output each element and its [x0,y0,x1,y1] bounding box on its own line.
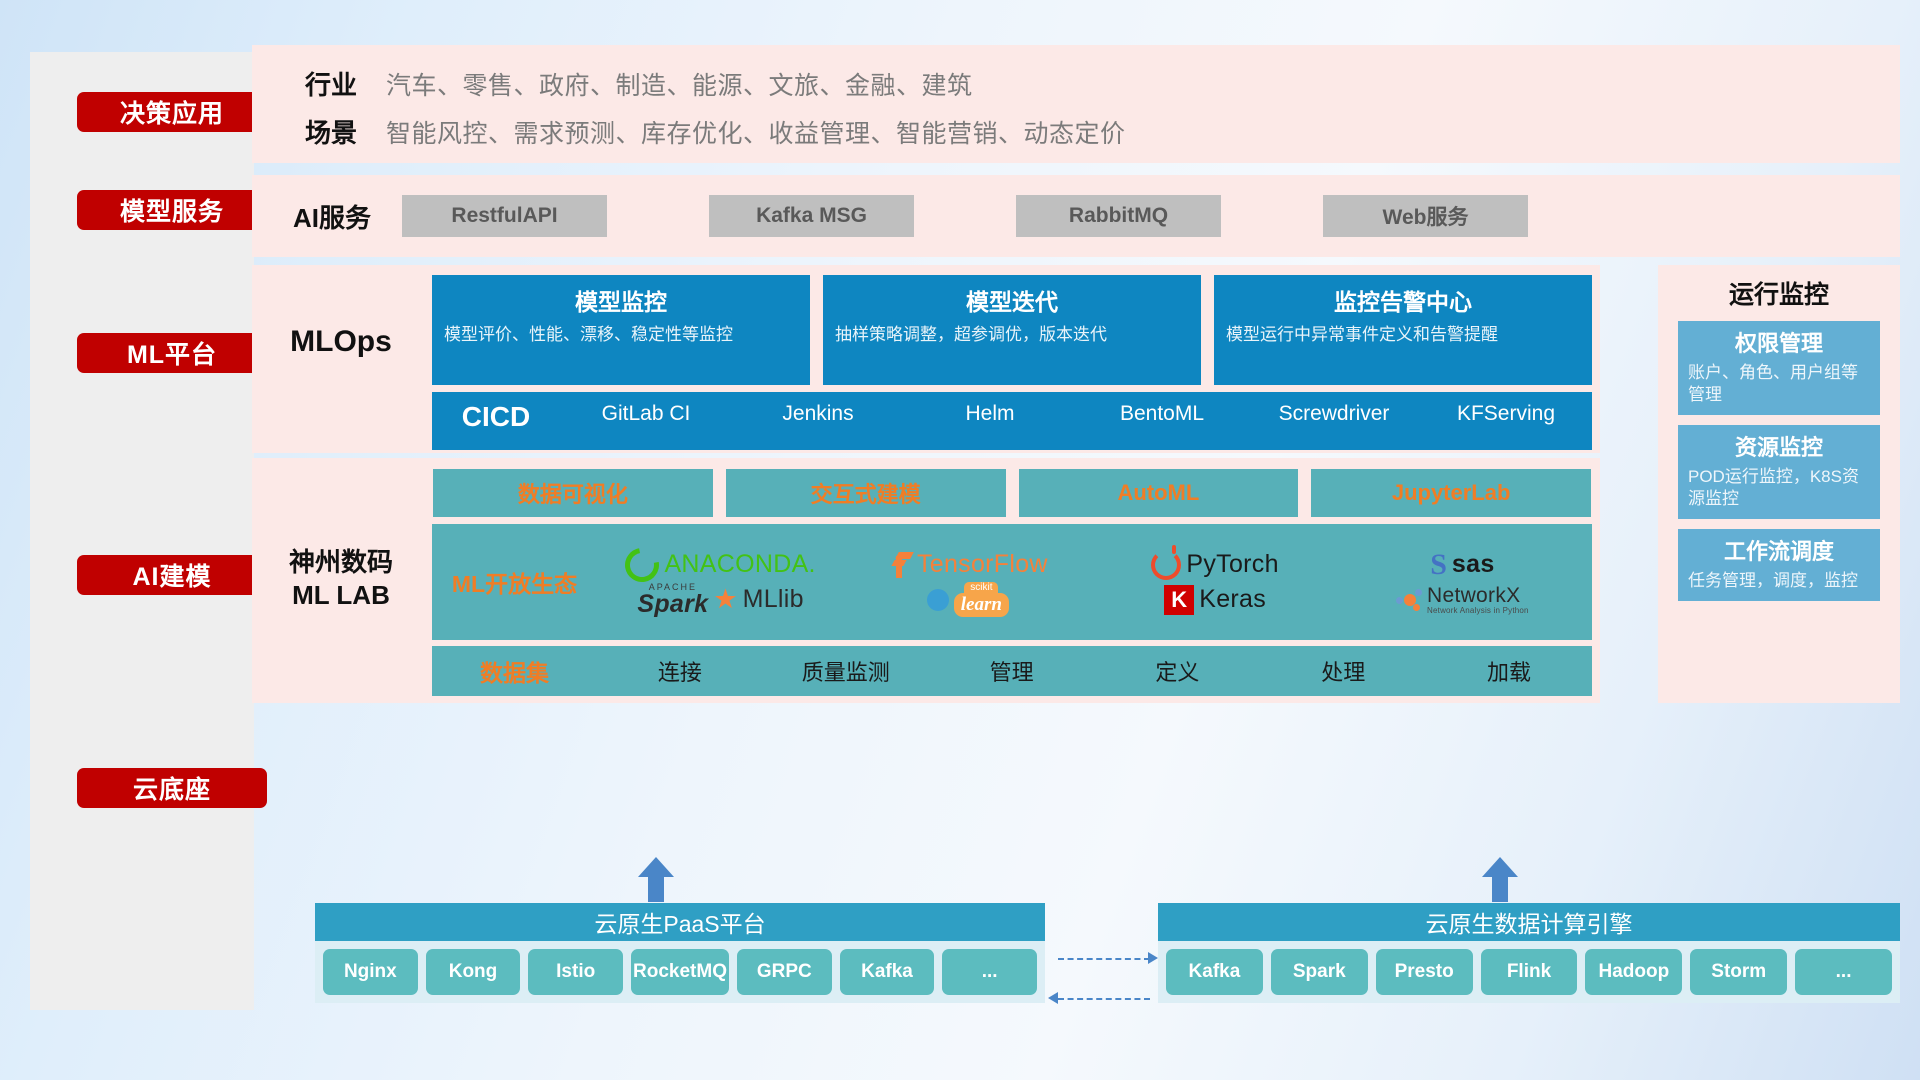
cicd-item-screwdriver[interactable]: Screwdriver [1248,392,1420,425]
rail-item-cloud-base[interactable]: 云底座 [77,768,267,808]
dataset-row: 数据集 连接 质量监测 管理 定义 处理 加载 [432,644,1592,696]
sas-s-icon: S [1430,548,1447,582]
mlops-card-desc: 模型运行中异常事件定义和告警提醒 [1226,324,1580,347]
dataset-item-manage[interactable]: 管理 [929,655,1095,687]
tensorflow-logo-text: TensorFlow [917,552,1048,577]
tab-data-visualization[interactable]: 数据可视化 [432,468,714,518]
ai-service-chip-restfulapi[interactable]: RestfulAPI [402,195,607,237]
tensorflow-mark-icon [888,552,912,578]
dataset-key: 数据集 [432,654,597,688]
keras-logo-text: Keras [1199,587,1266,612]
ai-service-chip-rabbitmq[interactable]: RabbitMQ [1016,195,1221,237]
cicd-item-helm[interactable]: Helm [904,392,1076,425]
monitoring-card-workflow[interactable]: 工作流调度 任务管理，调度，监控 [1678,529,1880,601]
cicd-item-gitlab-ci[interactable]: GitLab CI [560,392,732,425]
spark-logo-text: Spark [637,592,708,617]
industry-value: 汽车、零售、政府、制造、能源、文旅、金融、建筑 [386,66,973,102]
ml-lab-label-line1: 神州数码 [252,546,430,579]
pytorch-flame-icon [1151,550,1181,580]
mlops-card-title: 模型监控 [444,283,798,317]
data-engine-chip-hadoop[interactable]: Hadoop [1585,949,1682,995]
keras-mark-icon: K [1164,585,1194,615]
spark-mllib-logo: APACHE Spark ★ MLlib [637,583,803,617]
scikit-logo-text: scikit [964,582,998,593]
monitoring-card-title: 工作流调度 [1688,534,1870,566]
scenario-key: 场景 [276,113,386,150]
paas-chip-istio[interactable]: Istio [528,949,623,995]
mlops-card-desc: 模型评价、性能、漂移、稳定性等监控 [444,324,798,347]
networkx-logo-text: NetworkX [1427,585,1520,606]
monitoring-card-desc: 任务管理，调度，监控 [1688,570,1870,592]
monitoring-card-resource[interactable]: 资源监控 POD运行监控，K8S资源监控 [1678,425,1880,519]
paas-platform: 云原生PaaS平台 Nginx Kong Istio RocketMQ GRPC… [315,903,1045,1003]
tensorflow-logo: TensorFlow [888,552,1048,578]
networkx-graph-icon [1396,589,1422,611]
mlops-card-model-iteration[interactable]: 模型迭代 抽样策略调整，超参调优，版本迭代 [823,275,1201,385]
ai-service-band: AI服务 RestfulAPI Kafka MSG RabbitMQ Web服务 [252,175,1900,257]
rail-item-ml-platform[interactable]: ML平台 [77,333,267,373]
mllib-logo-text: MLlib [743,587,804,612]
scikit-blob-icon [927,589,949,611]
dataset-item-load[interactable]: 加载 [1426,655,1592,687]
paas-chip-list: Nginx Kong Istio RocketMQ GRPC Kafka ... [315,941,1045,1003]
data-engine-chip-more[interactable]: ... [1795,949,1892,995]
ai-service-chip-list: RestfulAPI Kafka MSG RabbitMQ Web服务 [402,175,1886,257]
monitoring-band: 运行监控 权限管理 账户、角色、用户组等管理 资源监控 POD运行监控，K8S资… [1658,265,1900,703]
monitoring-card-title: 权限管理 [1688,326,1870,358]
monitoring-card-title: 资源监控 [1688,430,1870,462]
cicd-row: CICD GitLab CI Jenkins Helm BentoML Scre… [432,392,1592,450]
monitoring-card-desc: 账户、角色、用户组等管理 [1688,362,1870,406]
ai-modeling-band: 神州数码 ML LAB 数据可视化 交互式建模 AutoML JupyterLa… [252,458,1600,703]
ai-service-chip-kafka-msg[interactable]: Kafka MSG [709,195,914,237]
tab-jupyterlab[interactable]: JupyterLab [1310,468,1592,518]
dataset-item-connect[interactable]: 连接 [597,655,763,687]
architecture-diagram: 决策应用 模型服务 ML平台 AI建模 云底座 行业 汽车、零售、政府、制造、能… [0,0,1920,1080]
data-engine-chip-spark[interactable]: Spark [1271,949,1368,995]
monitoring-card-permission[interactable]: 权限管理 账户、角色、用户组等管理 [1678,321,1880,415]
rail-item-ai-modeling[interactable]: AI建模 [77,555,267,595]
scenario-value: 智能风控、需求预测、库存优化、收益管理、智能营销、动态定价 [386,114,1126,150]
pytorch-logo-text: PyTorch [1186,552,1278,577]
rail-item-decision-app[interactable]: 决策应用 [77,92,267,132]
mlops-card-title: 监控告警中心 [1226,283,1580,317]
keras-logo: K Keras [1164,585,1266,615]
mlops-card-list: 模型监控 模型评价、性能、漂移、稳定性等监控 模型迭代 抽样策略调整，超参调优，… [432,275,1592,385]
sas-logo-text: sas [1452,552,1495,577]
scikit-learn-logo: scikit learn [927,582,1009,617]
networkx-logo: NetworkX Network Analysis in Python [1396,585,1529,615]
data-engine-chip-flink[interactable]: Flink [1481,949,1578,995]
anaconda-logo-text: ANACONDA. [664,552,815,577]
networkx-tagline: Network Analysis in Python [1427,607,1529,615]
sas-logo: S sas [1430,548,1494,582]
cicd-item-kfserving[interactable]: KFServing [1420,392,1592,425]
ml-ecosystem-key: ML开放生态 [432,565,597,599]
layer-rail: 决策应用 模型服务 ML平台 AI建模 云底座 [30,52,254,1010]
paas-chip-kong[interactable]: Kong [426,949,521,995]
paas-chip-kafka[interactable]: Kafka [840,949,935,995]
ml-lab-tab-list: 数据可视化 交互式建模 AutoML JupyterLab [432,468,1592,518]
cicd-item-jenkins[interactable]: Jenkins [732,392,904,425]
spark-star-icon: ★ [713,586,737,613]
monitoring-card-desc: POD运行监控，K8S资源监控 [1688,466,1870,510]
ml-lab-label: 神州数码 ML LAB [252,546,430,611]
industry-scenario-band: 行业 汽车、零售、政府、制造、能源、文旅、金融、建筑 场景 智能风控、需求预测、… [252,45,1900,163]
mlops-label: MLOps [252,325,430,359]
industry-key: 行业 [276,65,386,102]
paas-chip-rocketmq[interactable]: RocketMQ [631,949,729,995]
ai-service-label: AI服务 [272,175,392,257]
mlops-card-desc: 抽样策略调整，超参调优，版本迭代 [835,324,1189,347]
paas-chip-grpc[interactable]: GRPC [737,949,832,995]
mlops-card-model-monitoring[interactable]: 模型监控 模型评价、性能、漂移、稳定性等监控 [432,275,810,385]
data-engine-chip-kafka[interactable]: Kafka [1166,949,1263,995]
data-engine-chip-storm[interactable]: Storm [1690,949,1787,995]
data-engine-chip-presto[interactable]: Presto [1376,949,1473,995]
tab-interactive-modeling[interactable]: 交互式建模 [725,468,1007,518]
dataset-item-define[interactable]: 定义 [1094,655,1260,687]
mlops-card-alert-center[interactable]: 监控告警中心 模型运行中异常事件定义和告警提醒 [1214,275,1592,385]
paas-chip-more[interactable]: ... [942,949,1037,995]
ml-lab-label-line2: ML LAB [252,579,430,612]
dataset-item-quality-monitoring[interactable]: 质量监测 [763,655,929,687]
data-engine-platform: 云原生数据计算引擎 Kafka Spark Presto Flink Hadoo… [1158,903,1900,1003]
mlops-card-title: 模型迭代 [835,283,1189,317]
ml-ecosystem-logo-grid: ANACONDA. TensorFlow PyTorch S [597,547,1592,617]
mlops-band: MLOps 模型监控 模型评价、性能、漂移、稳定性等监控 模型迭代 抽样策略调整… [252,265,1600,453]
tab-automl[interactable]: AutoML [1018,468,1300,518]
data-engine-title: 云原生数据计算引擎 [1158,903,1900,941]
pytorch-logo: PyTorch [1151,550,1278,580]
ai-service-chip-web-service[interactable]: Web服务 [1323,195,1528,237]
dataset-item-process[interactable]: 处理 [1260,655,1426,687]
rail-item-model-service[interactable]: 模型服务 [77,190,267,230]
data-engine-chip-list: Kafka Spark Presto Flink Hadoop Storm ..… [1158,941,1900,1003]
ml-ecosystem-row: ML开放生态 ANACONDA. TensorFlow PyTo [432,524,1592,640]
anaconda-logo: ANACONDA. [625,548,815,582]
cicd-title: CICD [432,392,560,433]
monitoring-title: 运行监控 [1658,265,1900,311]
cicd-item-bentoml[interactable]: BentoML [1076,392,1248,425]
paas-chip-nginx[interactable]: Nginx [323,949,418,995]
learn-logo-text: learn [954,593,1009,617]
paas-platform-title: 云原生PaaS平台 [315,903,1045,941]
